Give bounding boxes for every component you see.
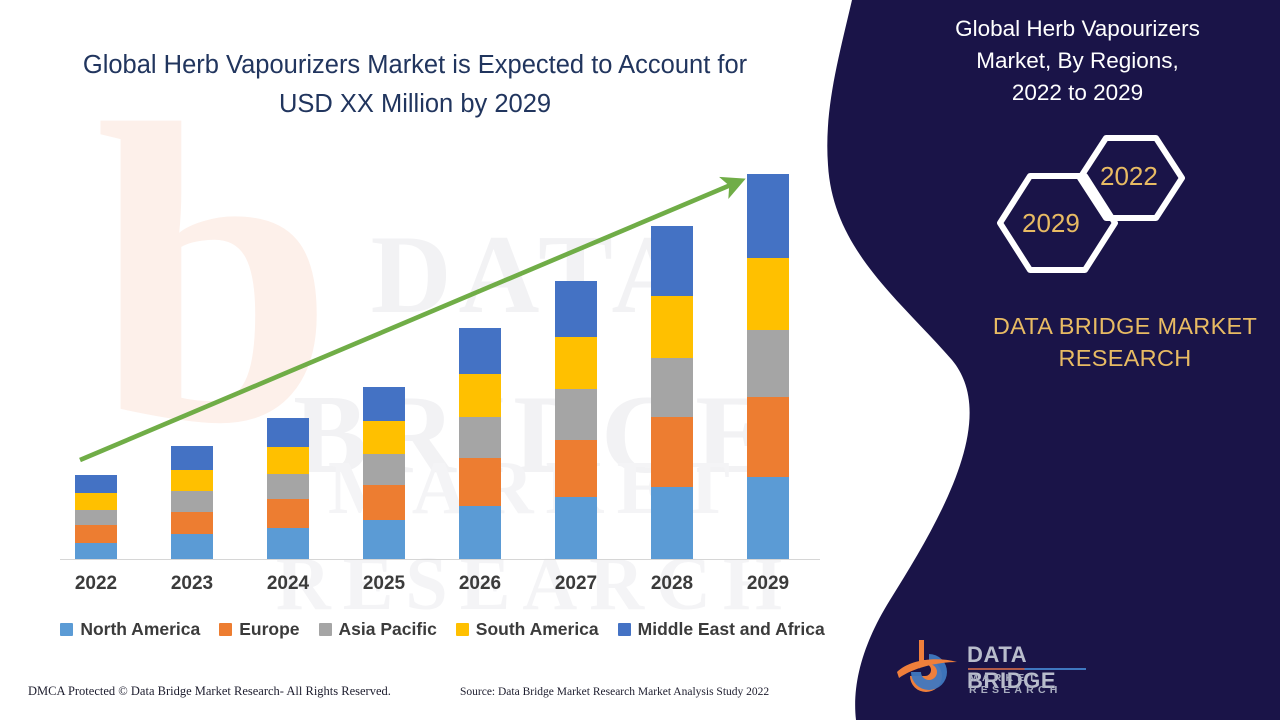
panel-title-line-1: Global Herb Vapourizers	[940, 13, 1215, 45]
legend-swatch-icon	[319, 623, 332, 636]
bar-segment	[363, 454, 405, 485]
bar-segment	[747, 258, 789, 330]
logo-text-sub: MARKET RESEARCH	[969, 672, 1100, 696]
chart-legend: North AmericaEuropeAsia PacificSouth Ame…	[55, 616, 830, 642]
bar-group-2027	[555, 281, 597, 559]
x-axis-label-2024: 2024	[248, 573, 328, 595]
legend-item[interactable]: South America	[456, 619, 599, 640]
legend-label: South America	[476, 619, 599, 640]
bar-group-2023	[171, 446, 213, 559]
legend-swatch-icon	[618, 623, 631, 636]
x-axis-labels: 20222023202420252026202720282029	[55, 573, 825, 599]
legend-label: Asia Pacific	[339, 619, 437, 640]
bar-group-2029	[747, 174, 789, 559]
legend-item[interactable]: North America	[60, 619, 200, 640]
bar-segment	[75, 493, 117, 509]
bar-segment	[651, 296, 693, 358]
bar-segment	[651, 226, 693, 296]
panel-title-line-3: 2022 to 2029	[940, 77, 1215, 109]
bar-segment	[267, 474, 309, 500]
bar-segment	[459, 506, 501, 559]
legend-swatch-icon	[456, 623, 469, 636]
bar-segment	[171, 446, 213, 470]
bar-segment	[651, 487, 693, 559]
bar-segment	[459, 458, 501, 505]
bar-segment	[75, 543, 117, 559]
chart-plot-area	[55, 160, 825, 560]
chart-title-line-1: Global Herb Vapourizers Market is Expect…	[55, 46, 775, 85]
x-axis-label-2029: 2029	[728, 573, 808, 595]
bar-group-2022	[75, 475, 117, 559]
slide-canvas: b DATA BRIDGE MARKET RESEARCH Global Her…	[0, 0, 1280, 720]
footer-dmca-notice: DMCA Protected © Data Bridge Market Rese…	[28, 684, 391, 699]
logo-divider	[968, 668, 1086, 670]
hexagon-badges: 2022 2029	[975, 128, 1190, 283]
bar-segment	[459, 374, 501, 417]
legend-item[interactable]: Asia Pacific	[319, 619, 437, 640]
legend-swatch-icon	[219, 623, 232, 636]
bar-segment	[651, 358, 693, 418]
legend-label: Europe	[239, 619, 299, 640]
bar-segment	[363, 421, 405, 454]
bar-segment	[75, 475, 117, 493]
bar-segment	[267, 499, 309, 528]
panel-title: Global Herb Vapourizers Market, By Regio…	[940, 13, 1215, 109]
bar-segment	[171, 470, 213, 492]
x-axis-label-2023: 2023	[152, 573, 232, 595]
legend-label: Middle East and Africa	[638, 619, 825, 640]
bar-group-2024	[267, 418, 309, 559]
x-axis-label-2025: 2025	[344, 573, 424, 595]
page-title: Global Herb Vapourizers Market is Expect…	[55, 46, 775, 124]
x-axis-label-2028: 2028	[632, 573, 712, 595]
x-axis-line	[60, 559, 820, 560]
legend-item[interactable]: Middle East and Africa	[618, 619, 825, 640]
chart-title-line-2: USD XX Million by 2029	[55, 85, 775, 124]
hexagon-outline-icons	[975, 128, 1190, 283]
bar-group-2026	[459, 328, 501, 559]
bar-segment	[555, 497, 597, 559]
panel-title-line-2: Market, By Regions,	[940, 45, 1215, 77]
bar-segment	[171, 491, 213, 512]
bar-segment	[747, 477, 789, 559]
bar-segment	[267, 528, 309, 559]
bar-segment	[747, 397, 789, 477]
footer-source-note: Source: Data Bridge Market Research Mark…	[460, 686, 769, 698]
brand-name: DATA BRIDGE MARKET RESEARCH	[975, 310, 1275, 374]
bar-segment	[363, 387, 405, 422]
legend-swatch-icon	[60, 623, 73, 636]
bar-segment	[747, 174, 789, 258]
bar-group-2028	[651, 226, 693, 559]
brand-name-line-1: DATA BRIDGE MARKET	[975, 310, 1275, 342]
brand-name-line-2: RESEARCH	[975, 342, 1275, 374]
legend-label: North America	[80, 619, 200, 640]
bar-segment	[363, 485, 405, 520]
bar-segment	[363, 520, 405, 559]
hexagon-2022-label: 2022	[1100, 161, 1158, 192]
bar-segment	[459, 417, 501, 458]
bar-segment	[747, 330, 789, 397]
bar-segment	[171, 512, 213, 535]
x-axis-label-2027: 2027	[536, 573, 616, 595]
bar-segment	[555, 337, 597, 388]
bar-segment	[555, 389, 597, 440]
legend-item[interactable]: Europe	[219, 619, 299, 640]
bar-segment	[171, 534, 213, 559]
bar-segment	[75, 510, 117, 525]
bar-segment	[651, 417, 693, 487]
x-axis-label-2022: 2022	[56, 573, 136, 595]
x-axis-label-2026: 2026	[440, 573, 520, 595]
bar-segment	[267, 447, 309, 474]
bar-segment	[459, 328, 501, 374]
bar-segment	[555, 440, 597, 497]
bar-group-2025	[363, 387, 405, 559]
hexagon-2029-label: 2029	[1022, 208, 1080, 239]
bar-segment	[555, 281, 597, 337]
logo-mark-icon	[895, 636, 965, 696]
stacked-bar-chart	[55, 160, 825, 560]
bar-segment	[75, 525, 117, 542]
bar-segment	[267, 418, 309, 447]
data-bridge-logo: DATA BRIDGE MARKET RESEARCH	[895, 636, 1100, 698]
